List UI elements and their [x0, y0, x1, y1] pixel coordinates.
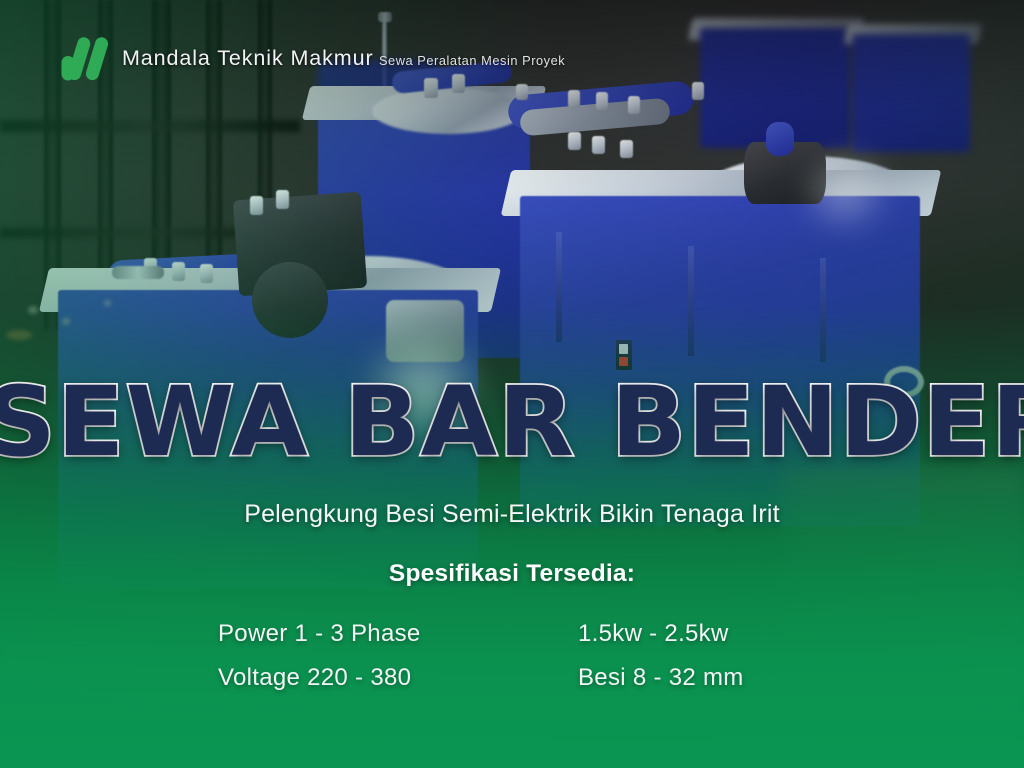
spec-voltage: Voltage 220 - 380	[218, 664, 578, 692]
brand-lockup: Mandala Teknik Makmur Sewa Peralatan Mes…	[47, 27, 565, 87]
poster-content: Mandala Teknik Makmur Sewa Peralatan Mes…	[0, 0, 1024, 768]
brand-text-block: Mandala Teknik Makmur Sewa Peralatan Mes…	[122, 44, 565, 71]
subtitle: Pelengkung Besi Semi-Elektrik Bikin Tena…	[0, 500, 1024, 529]
brand-tagline: Sewa Peralatan Mesin Proyek	[379, 53, 565, 68]
spec-kw: 1.5kw - 2.5kw	[578, 620, 818, 648]
specs-grid: Power 1 - 3 Phase 1.5kw - 2.5kw Voltage …	[218, 620, 818, 692]
page-title: SEWA BAR BENDER	[0, 374, 1024, 470]
brand-name: Mandala Teknik Makmur	[122, 46, 374, 70]
promotional-poster: Mandala Teknik Makmur Sewa Peralatan Mes…	[0, 0, 1024, 768]
mandala-m-monogram-icon	[47, 27, 109, 87]
specs-heading: Spesifikasi Tersedia:	[0, 560, 1024, 588]
spec-besi: Besi 8 - 32 mm	[578, 664, 818, 692]
spec-power: Power 1 - 3 Phase	[218, 620, 578, 648]
